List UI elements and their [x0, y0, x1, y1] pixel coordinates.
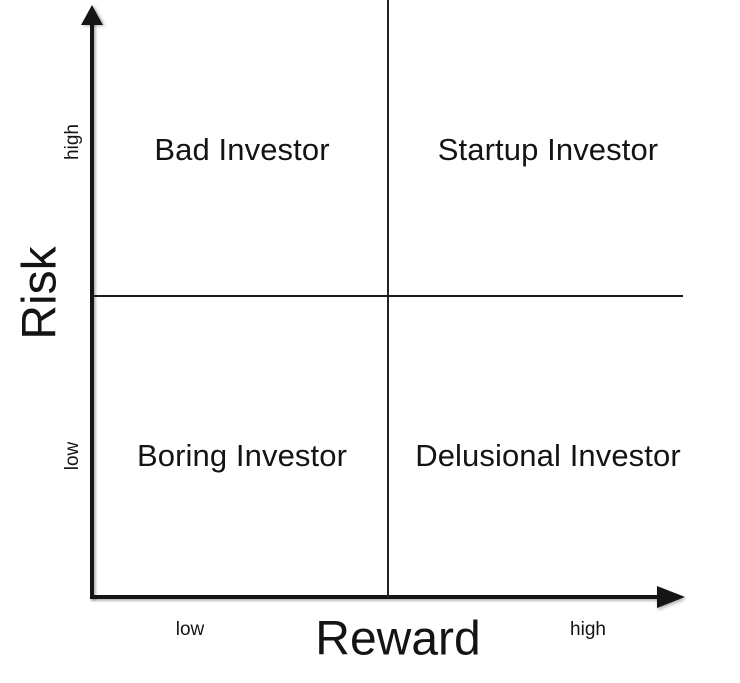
y-axis-line	[90, 20, 94, 599]
arrow-right-icon	[657, 586, 685, 608]
quadrant-label-bottom-left: Boring Investor	[137, 438, 347, 474]
quadrant-label-top-right: Startup Investor	[438, 132, 658, 168]
x-axis-tick-high: high	[570, 619, 606, 641]
x-axis-title: Reward	[315, 612, 480, 667]
risk-reward-matrix-diagram: Bad Investor Startup Investor Boring Inv…	[0, 0, 740, 683]
horizontal-divider-line	[92, 295, 683, 297]
vertical-divider-line	[387, 0, 389, 598]
x-axis-line	[90, 595, 660, 599]
arrow-up-icon	[81, 5, 103, 25]
y-axis-tick-low: low	[62, 442, 84, 471]
y-axis-tick-high: high	[62, 124, 84, 160]
quadrant-label-bottom-right: Delusional Investor	[415, 438, 681, 474]
y-axis-title: Risk	[13, 246, 68, 339]
x-axis-tick-low: low	[176, 619, 205, 641]
quadrant-label-top-left: Bad Investor	[154, 132, 329, 168]
